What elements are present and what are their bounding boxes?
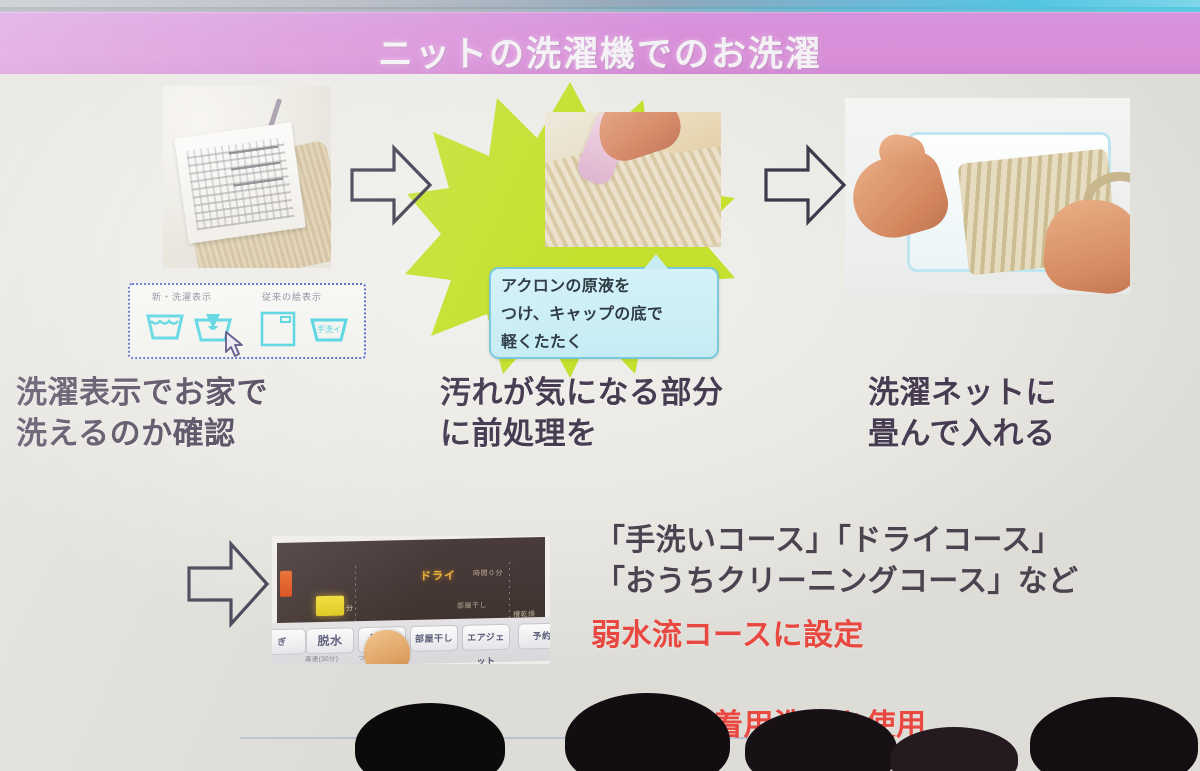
photo-pretreatment — [545, 112, 721, 247]
screen-bottom-line — [240, 737, 760, 739]
symbol-label-new: 新・洗濯表示 — [152, 290, 212, 303]
washtub-icon — [144, 310, 186, 344]
display-mode-dry: ドライ — [420, 567, 456, 584]
step-1-caption-line-1: 洗濯表示でお家で — [16, 372, 268, 413]
display-divider-2 — [509, 562, 510, 618]
step-3-caption: 洗濯ネットに 畳んで入れる — [868, 372, 1057, 454]
speech-bubble: アクロンの原液を つけ、キャップの底で 軽くたたく — [489, 267, 719, 359]
display-indicator-yellow — [316, 596, 344, 617]
course-line-1: 「手洗いコース」「ドライコース」 — [595, 520, 1078, 561]
display-unit-min: 分 — [346, 603, 354, 613]
symbol-label-old: 従来の絵表示 — [262, 290, 322, 303]
highlight-weak-flow: 弱水流コースに設定 — [591, 610, 864, 654]
arrow-right-icon-2 — [762, 140, 848, 230]
speech-bubble-line-2: つけ、キャップの底で — [491, 297, 717, 325]
arrow-right-icon-3 — [185, 536, 271, 632]
finger-pressing-button — [364, 630, 410, 664]
display-text-time: 時間０分 — [473, 568, 503, 579]
slide-screenshot: ニットの洗濯機でのお洗濯 — [0, 0, 1200, 771]
machine-button-spin-sub: 高速(30分) — [305, 653, 338, 664]
display-text-roomdry: 部屋干し — [457, 600, 487, 611]
machine-button-0[interactable]: ぎ — [272, 628, 306, 655]
label-care-symbols — [228, 142, 285, 202]
machine-button-reserve[interactable]: 予約 — [518, 622, 550, 649]
machine-button-spin[interactable]: 脱水 — [306, 627, 354, 654]
display-divider-1 — [355, 565, 356, 621]
display-indicator-red — [280, 571, 292, 597]
machine-display: ドライ 時間０分 部屋干し 槽乾燥 分 — [277, 537, 545, 625]
svg-text:手洗イ: 手洗イ — [317, 324, 341, 334]
page-title: ニットの洗濯機でのお洗濯 — [0, 26, 1200, 77]
speech-bubble-line-1: アクロンの原液を — [491, 269, 717, 297]
step-3-caption-line-2: 畳んで入れる — [868, 413, 1057, 454]
step-2-caption: 汚れが気になる部分 に前処理を — [440, 372, 724, 454]
photo-care-label — [163, 86, 331, 268]
machine-button-airjet[interactable]: エアジェット — [462, 624, 510, 651]
step-2-caption-line-1: 汚れが気になる部分 — [440, 372, 724, 413]
photo-laundry-net — [845, 98, 1130, 294]
handwash-tub-icon: 手洗イ — [308, 310, 350, 344]
step-1-caption-line-2: 洗えるのか確認 — [16, 413, 268, 454]
machine-button-roomdry[interactable]: 部屋干し — [410, 625, 458, 652]
speech-bubble-line-3: 軽くたたく — [491, 325, 717, 353]
course-description: 「手洗いコース」「ドライコース」 「おうちクリーニングコース」など — [595, 520, 1078, 603]
photo-washing-machine-panel: ドライ 時間０分 部屋干し 槽乾燥 分 ぎ 脱水 高速(30分) 洗濯 つけおき… — [272, 536, 550, 664]
washing-machine-icon — [258, 310, 298, 348]
course-line-2: 「おうちクリーニングコース」など — [595, 561, 1078, 602]
step-3-caption-line-1: 洗濯ネットに — [868, 372, 1057, 413]
step-2-caption-line-2: に前処理を — [440, 413, 724, 454]
arrow-right-icon-1 — [348, 140, 434, 230]
mouse-pointer-icon — [224, 330, 248, 360]
title-banner: ニットの洗濯機でのお洗濯 — [0, 12, 1200, 74]
machine-button-bar: ぎ 脱水 高速(30分) 洗濯 つけおき 部屋干し エアジェット 予約 — [272, 617, 550, 664]
step-1-caption: 洗濯表示でお家で 洗えるのか確認 — [16, 372, 268, 454]
care-label-tag — [174, 122, 306, 243]
speech-bubble-tail — [643, 254, 669, 270]
